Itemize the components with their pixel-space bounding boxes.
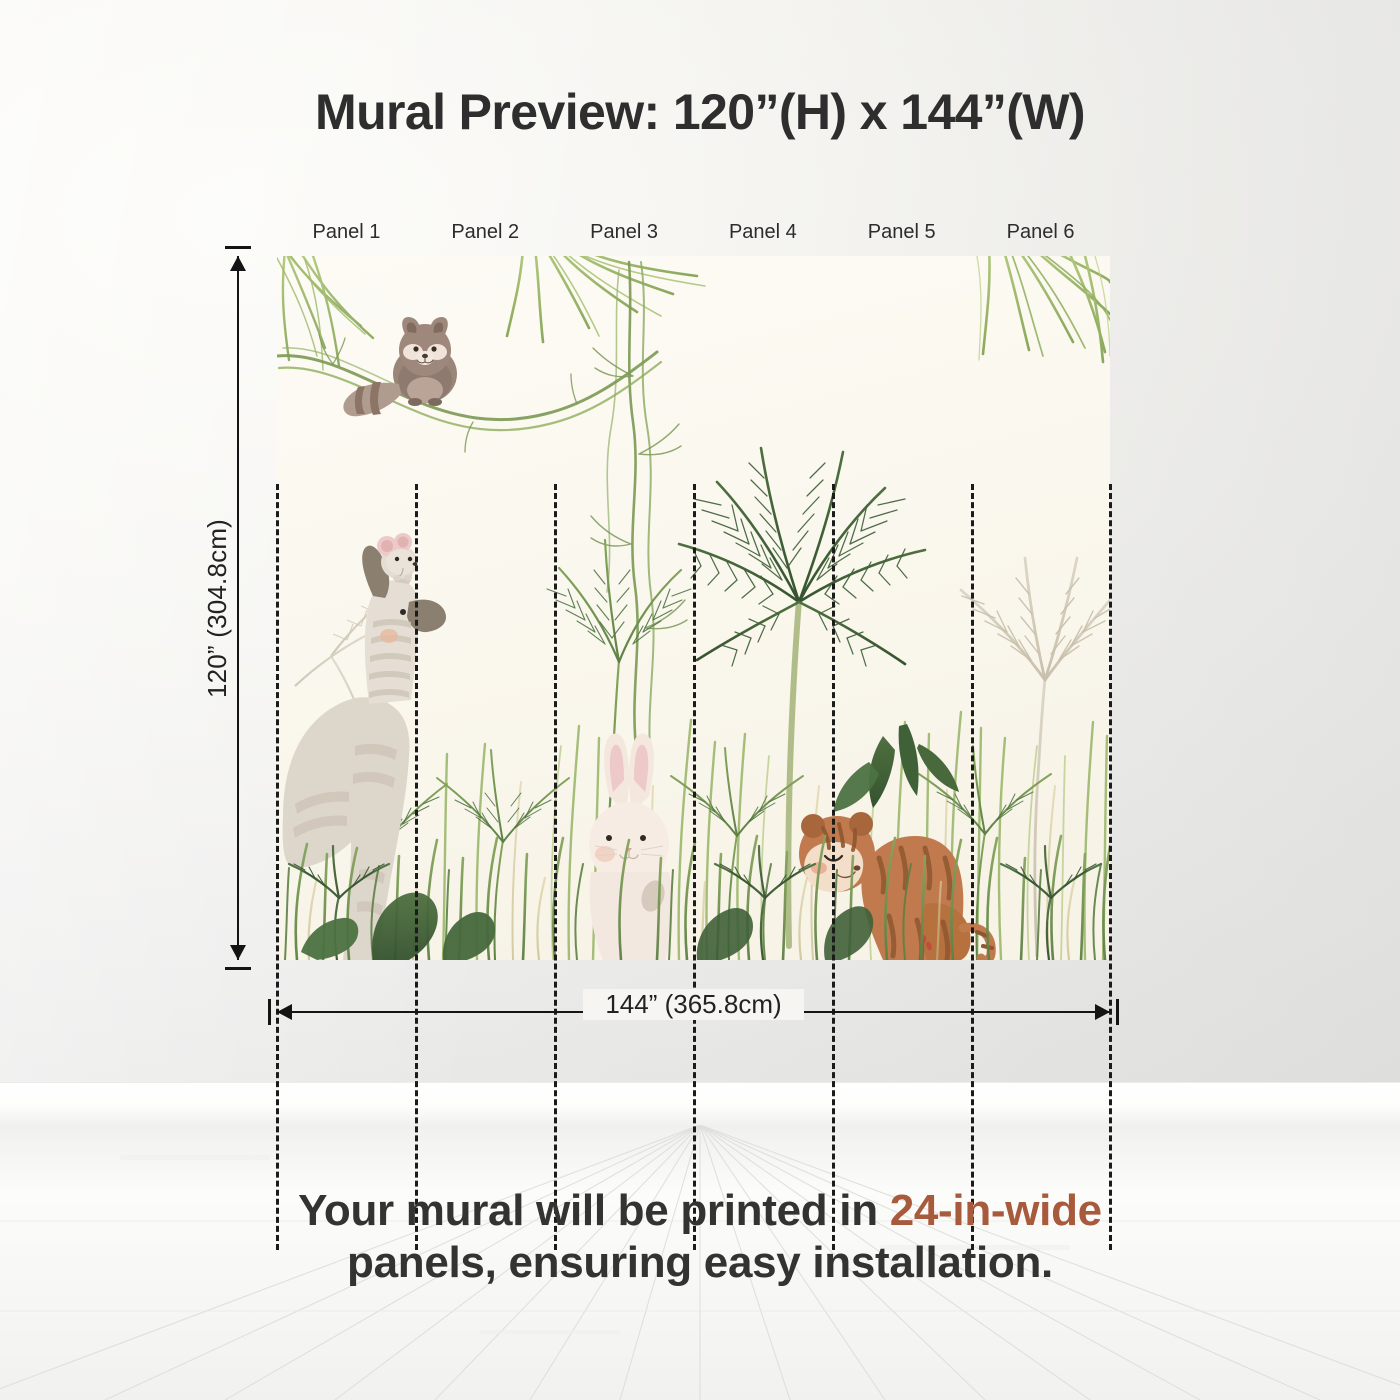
- panel-divider-0: [276, 484, 279, 1250]
- panel-divider-2: [554, 484, 557, 1250]
- panel-divider-1: [415, 484, 418, 1250]
- height-dimension-text: 120” (304.8cm): [203, 518, 234, 697]
- width-tick-right: [1116, 999, 1119, 1025]
- panel-label-3: Panel 3: [555, 217, 694, 251]
- panel-divider-6: [1109, 484, 1112, 1250]
- panel-label-6: Panel 6: [971, 217, 1110, 251]
- width-dimension-label: 144” (365.8cm): [277, 989, 1110, 1020]
- caption-line1-prefix: Your mural will be printed in: [298, 1186, 890, 1235]
- panel-label-1: Panel 1: [277, 217, 416, 251]
- height-dimension-label: 120” (304.8cm): [196, 256, 240, 960]
- mural-preview[interactable]: [277, 256, 1110, 960]
- panel-divider-3: [693, 484, 696, 1250]
- panel-divider-5: [971, 484, 974, 1250]
- caption: Your mural will be printed in 24-in-wide…: [0, 1185, 1400, 1289]
- panel-label-2: Panel 2: [416, 217, 555, 251]
- panel-divider-4: [832, 484, 835, 1250]
- height-tick-top: [225, 246, 251, 249]
- caption-line2: panels, ensuring easy installation.: [0, 1237, 1400, 1289]
- width-tick-left: [268, 999, 271, 1025]
- caption-accent-panel-width: 24-in-wide: [890, 1186, 1102, 1235]
- page-title: Mural Preview: 120”(H) x 144”(W): [0, 83, 1400, 141]
- baseboard: [0, 1082, 1400, 1125]
- panel-label-row: Panel 1 Panel 2 Panel 3 Panel 4 Panel 5 …: [277, 217, 1110, 251]
- panel-label-4: Panel 4: [693, 217, 832, 251]
- height-tick-bottom: [225, 967, 251, 970]
- panel-label-5: Panel 5: [832, 217, 971, 251]
- width-dimension-text: 144” (365.8cm): [583, 989, 803, 1020]
